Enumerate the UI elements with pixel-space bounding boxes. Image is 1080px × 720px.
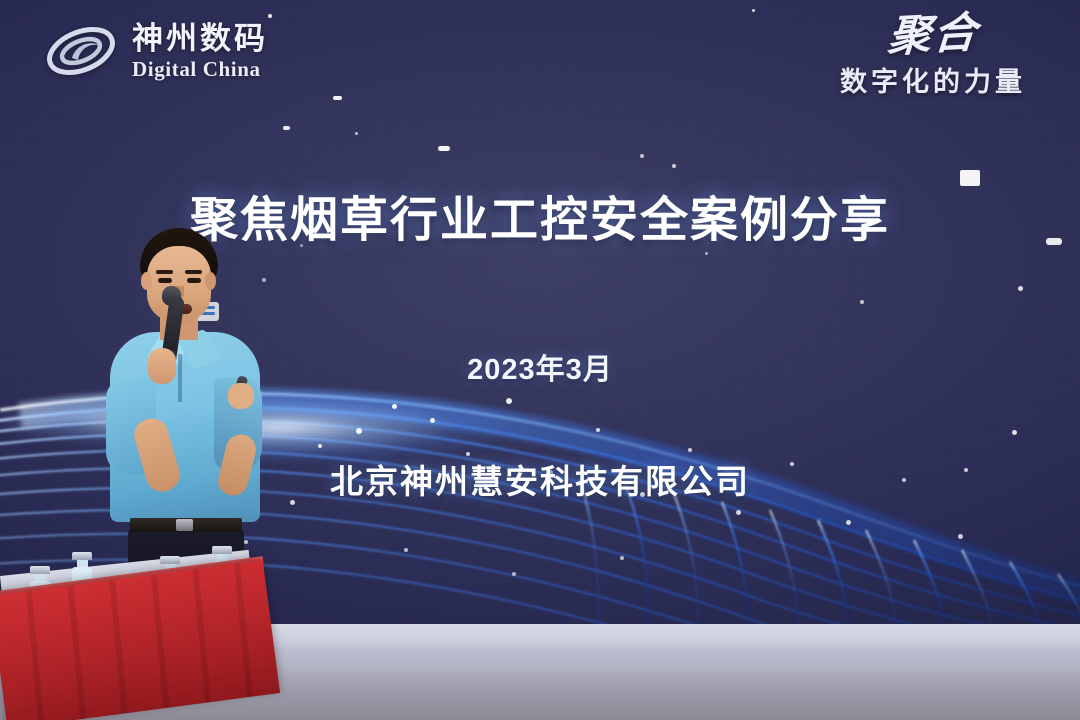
speaker-eye-left: [158, 278, 172, 283]
speaker-eye-right: [187, 278, 201, 283]
event-theme-logo: 聚合 数字化的力量: [808, 16, 1058, 99]
event-calligraphy: 聚合: [806, 9, 1060, 62]
speaker-ear-left: [141, 272, 152, 290]
speaker-eyebrow-left: [156, 270, 173, 274]
event-tagline: 数字化的力量: [808, 60, 1058, 99]
speaker-ear-right: [205, 272, 216, 290]
digital-china-logo: 神州数码 Digital China: [42, 18, 268, 84]
speaker-shirt-placket: [178, 354, 182, 402]
digital-china-spiral-icon: [42, 18, 120, 84]
belt-buckle: [176, 519, 193, 531]
speaker-hand-left: [148, 348, 176, 384]
brand-english-name: Digital China: [132, 59, 268, 80]
brand-chinese-name: 神州数码: [132, 23, 268, 54]
speaker-eyebrow-right: [185, 270, 202, 274]
conference-stage-photo: 神州数码 Digital China 聚合 数字化的力量 聚焦烟草行业工控安全案…: [0, 0, 1080, 720]
speaker-hand-right: [228, 383, 254, 409]
